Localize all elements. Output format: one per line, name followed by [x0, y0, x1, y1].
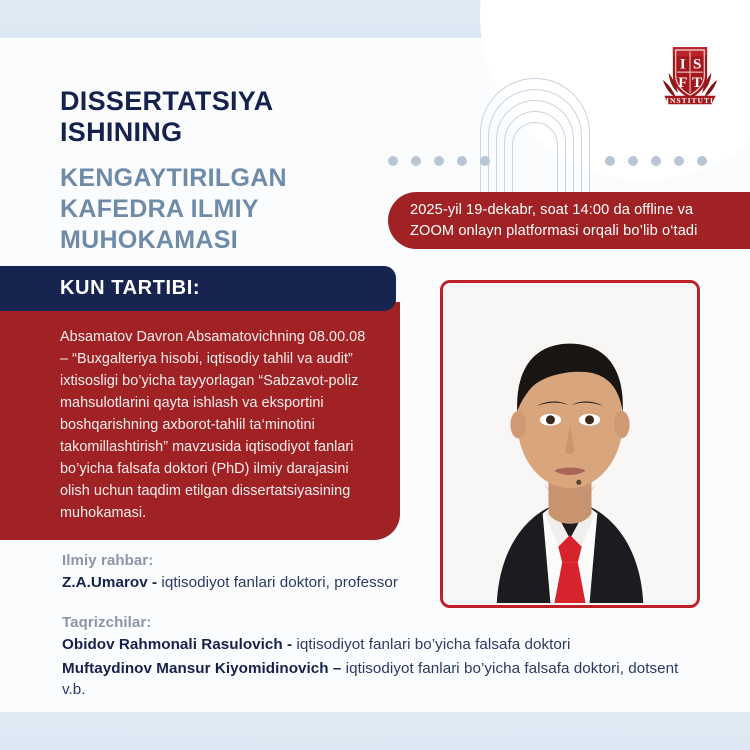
title-line-2: ISHINING — [60, 117, 390, 148]
dot-row-left — [388, 156, 490, 166]
subtitle-line-1: KENGAYTIRILGAN — [60, 163, 390, 194]
svg-text:S: S — [693, 57, 701, 73]
dot — [605, 156, 615, 166]
subtitle-line-3: MUHOKAMASI — [60, 225, 390, 256]
dot — [628, 156, 638, 166]
institute-logo-icon: I S F T INSTITUTI — [654, 40, 726, 110]
reviewer-name: Obidov Rahmonali Rasulovich - — [62, 636, 292, 653]
dot — [480, 156, 490, 166]
reviewers-section: Taqrizchilar: Obidov Rahmonali Rasulovic… — [62, 614, 692, 701]
dot-row-right — [605, 156, 707, 166]
supervisor-desc: iqtisodiyot fanlari doktori, professor — [161, 574, 398, 591]
page-subtitle: KENGAYTIRILGAN KAFEDRA ILMIY MUHOKAMASI — [60, 163, 390, 256]
dot — [457, 156, 467, 166]
date-line-2: ZOOM onlayn platformasi orqali bo’lib o‘… — [410, 221, 697, 242]
portrait-photo-frame — [440, 280, 700, 608]
agenda-panel: Absamatov Davron Absamatovichning 08.00.… — [0, 302, 400, 540]
reviewer-entry: Obidov Rahmonali Rasulovich - iqtisodiyo… — [62, 635, 692, 656]
reviewers-label: Taqrizchilar: — [62, 614, 692, 631]
page-title: DISSERTATSIYA ISHINING — [60, 86, 390, 149]
date-line-1: 2025-yil 19-dekabr, soat 14:00 da offlin… — [410, 200, 697, 221]
arch-pattern-decoration — [480, 78, 590, 208]
reviewer-entry: Muftaydinov Mansur Kiyomidinovich – iqti… — [62, 659, 692, 700]
supervisor-name: Z.A.Umarov - — [62, 574, 157, 591]
agenda-header: KUN TARTIBI: — [0, 266, 396, 311]
poster-canvas: I S F T INSTITUTI DISSERTATSIYA ISHINING… — [0, 0, 750, 750]
svg-text:F: F — [678, 75, 687, 91]
dot — [434, 156, 444, 166]
reviewer-name: Muftaydinov Mansur Kiyomidinovich – — [62, 660, 341, 677]
dot — [411, 156, 421, 166]
portrait-photo — [443, 283, 697, 603]
date-time-text: 2025-yil 19-dekabr, soat 14:00 da offlin… — [410, 200, 697, 241]
agenda-header-title: KUN TARTIBI: — [60, 277, 200, 300]
svg-text:T: T — [692, 75, 702, 91]
bottom-color-band — [0, 712, 750, 750]
date-time-banner: 2025-yil 19-dekabr, soat 14:00 da offlin… — [388, 192, 750, 249]
dot — [651, 156, 661, 166]
subtitle-line-2: KAFEDRA ILMIY — [60, 194, 390, 225]
agenda-body-text: Absamatov Davron Absamatovichning 08.00.… — [60, 326, 372, 524]
reviewer-desc: iqtisodiyot fanlari bo’yicha falsafa dok… — [296, 636, 570, 653]
svg-text:INSTITUTI: INSTITUTI — [666, 96, 714, 105]
poster-title-block: DISSERTATSIYA ISHINING KENGAYTIRILGAN KA… — [60, 86, 390, 256]
dot — [697, 156, 707, 166]
dot — [674, 156, 684, 166]
title-line-1: DISSERTATSIYA — [60, 86, 390, 117]
svg-text:I: I — [680, 57, 686, 73]
